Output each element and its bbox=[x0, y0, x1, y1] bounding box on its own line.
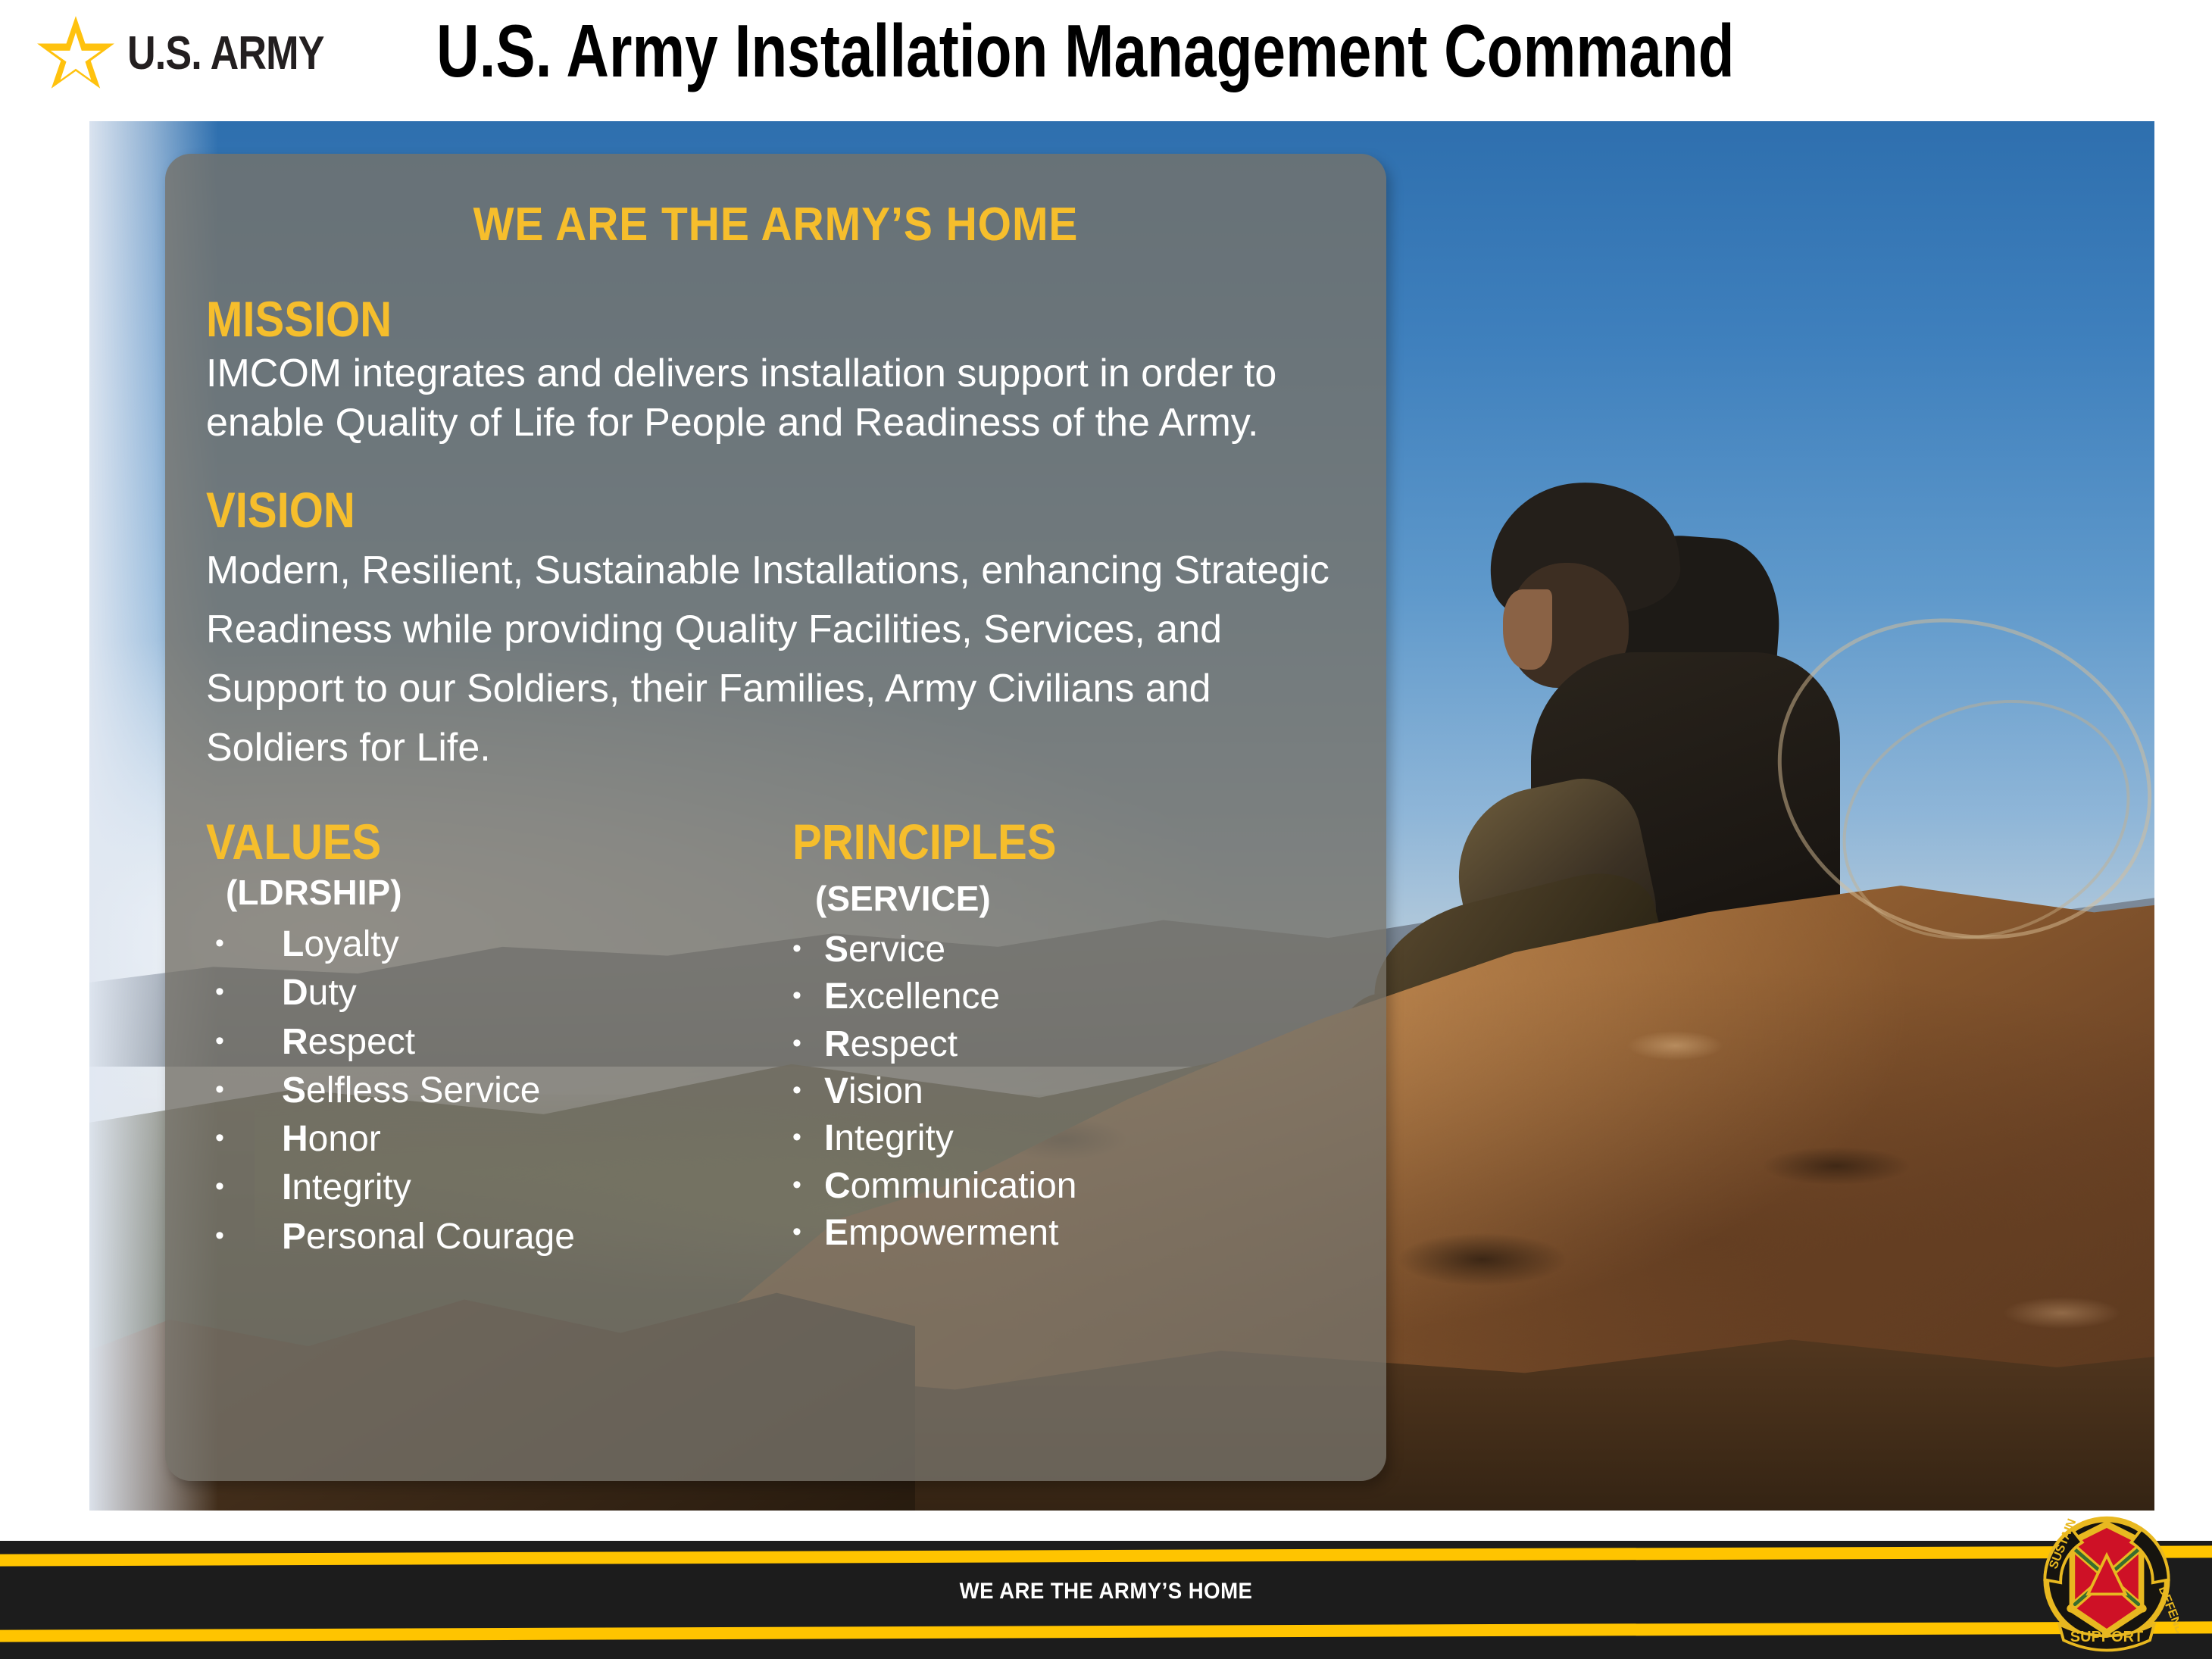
panel-title: WE ARE THE ARMY’S HOME bbox=[252, 198, 1300, 252]
vision-section: VISION Modern, Resilient, Sustainable In… bbox=[206, 485, 1345, 776]
bullet-icon: • bbox=[215, 1028, 235, 1054]
list-item-label: Loyalty bbox=[282, 920, 399, 969]
list-item: •Integrity bbox=[206, 1164, 759, 1212]
values-subheading: (LDRSHIP) bbox=[226, 872, 759, 913]
list-item: •Integrity bbox=[792, 1115, 1345, 1162]
mission-section: MISSION IMCOM integrates and delivers in… bbox=[206, 294, 1345, 447]
page-footer: WE ARE THE ARMY’S HOME SUPPORT SUSTAIN D… bbox=[0, 1511, 2212, 1659]
bullet-icon: • bbox=[215, 1076, 235, 1102]
crest-scroll-text: SUPPORT bbox=[2070, 1629, 2143, 1645]
bullet-icon: • bbox=[792, 936, 812, 961]
bullet-icon: • bbox=[792, 1219, 812, 1245]
list-item: •Respect bbox=[206, 1018, 759, 1067]
imcom-crest-icon: SUPPORT SUSTAIN DEFEND bbox=[2035, 1514, 2179, 1657]
list-item: •Empowerment bbox=[792, 1210, 1345, 1257]
list-item: •Communication bbox=[792, 1163, 1345, 1210]
values-principles-columns: VALUES (LDRSHIP) •Loyalty•Duty•Respect•S… bbox=[206, 817, 1345, 1262]
list-item: •Loyalty bbox=[206, 920, 759, 969]
footer-tagline: WE ARE THE ARMY’S HOME bbox=[89, 1579, 2123, 1604]
page-header: U.S. ARMY U.S. Army Installation Managem… bbox=[0, 0, 2212, 121]
principles-heading: PRINCIPLES bbox=[792, 817, 1279, 867]
soldier-face bbox=[1503, 589, 1552, 670]
us-army-logo: U.S. ARMY bbox=[36, 14, 361, 92]
list-item-label: Respect bbox=[824, 1021, 958, 1068]
bullet-icon: • bbox=[215, 979, 235, 1004]
mission-heading: MISSION bbox=[206, 294, 1209, 345]
list-item-label: Integrity bbox=[824, 1115, 954, 1162]
bullet-icon: • bbox=[215, 930, 235, 956]
principles-list: •Service•Excellence•Respect•Vision•Integ… bbox=[792, 926, 1345, 1258]
footer-base-bar bbox=[0, 1648, 2212, 1659]
principles-section: PRINCIPLES (SERVICE) •Service•Excellence… bbox=[759, 817, 1345, 1262]
bullet-icon: • bbox=[792, 1124, 812, 1150]
list-item: •Personal Courage bbox=[206, 1213, 759, 1261]
list-item-label: Personal Courage bbox=[282, 1213, 575, 1261]
list-item-label: Honor bbox=[282, 1115, 381, 1164]
bullet-icon: • bbox=[792, 1077, 812, 1103]
list-item: •Respect bbox=[792, 1021, 1345, 1068]
values-list: •Loyalty•Duty•Respect•Selfless Service•H… bbox=[206, 920, 759, 1261]
list-item-label: Selfless Service bbox=[282, 1067, 540, 1115]
list-item: •Vision bbox=[792, 1068, 1345, 1115]
list-item-label: Service bbox=[824, 926, 945, 973]
bullet-icon: • bbox=[792, 1030, 812, 1056]
list-item-label: Empowerment bbox=[824, 1210, 1058, 1257]
us-army-wordmark: U.S. ARMY bbox=[127, 27, 324, 80]
list-item: •Excellence bbox=[792, 973, 1345, 1020]
list-item: •Honor bbox=[206, 1115, 759, 1164]
list-item-label: Duty bbox=[282, 969, 357, 1017]
list-item: •Service bbox=[792, 926, 1345, 973]
values-heading: VALUES bbox=[206, 817, 692, 867]
list-item-label: Communication bbox=[824, 1163, 1076, 1210]
content-panel: WE ARE THE ARMY’S HOME MISSION IMCOM int… bbox=[165, 154, 1386, 1481]
principles-subheading: (SERVICE) bbox=[815, 878, 1345, 919]
bullet-icon: • bbox=[215, 1223, 235, 1248]
mission-body: IMCOM integrates and delivers installati… bbox=[206, 349, 1342, 447]
vision-body: Modern, Resilient, Sustainable Installat… bbox=[206, 541, 1342, 777]
list-item: •Selfless Service bbox=[206, 1067, 759, 1115]
values-section: VALUES (LDRSHIP) •Loyalty•Duty•Respect•S… bbox=[206, 817, 759, 1262]
vision-heading: VISION bbox=[206, 485, 1209, 536]
list-item-label: Integrity bbox=[282, 1164, 411, 1212]
list-item: •Duty bbox=[206, 969, 759, 1017]
list-item-label: Excellence bbox=[824, 973, 1000, 1020]
bullet-icon: • bbox=[215, 1173, 235, 1199]
list-item-label: Respect bbox=[282, 1018, 415, 1067]
page-title: U.S. Army Installation Management Comman… bbox=[436, 6, 1734, 97]
bullet-icon: • bbox=[792, 983, 812, 1008]
list-item-label: Vision bbox=[824, 1068, 923, 1115]
army-star-icon bbox=[36, 14, 115, 92]
bullet-icon: • bbox=[792, 1172, 812, 1198]
bullet-icon: • bbox=[215, 1125, 235, 1151]
